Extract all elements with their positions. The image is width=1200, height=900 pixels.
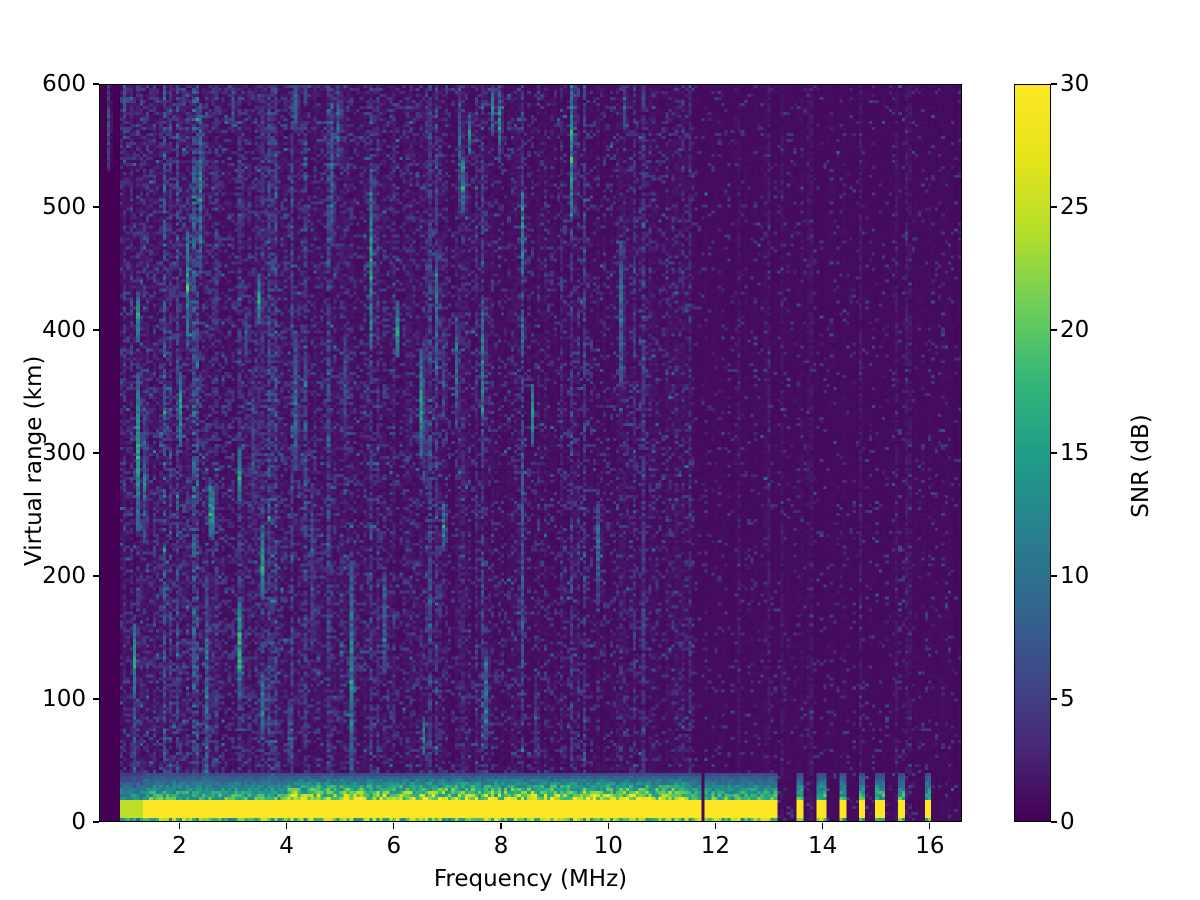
- y-tick-label: 200: [0, 563, 86, 589]
- y-tick-mark: [93, 452, 99, 453]
- y-tick-mark: [93, 698, 99, 699]
- x-tick-label: 12: [701, 833, 730, 859]
- colorbar-tick-mark: [1051, 83, 1057, 84]
- x-tick-label: 2: [172, 833, 187, 859]
- x-tick-mark: [715, 823, 716, 829]
- colorbar-tick-mark: [1051, 821, 1057, 822]
- colorbar-tick-label: 25: [1060, 194, 1089, 220]
- ionogram-figure: IRF Uppsala SDR Ionosonde UP158 2025-10-…: [0, 0, 1200, 900]
- x-tick-label: 4: [279, 833, 294, 859]
- colorbar-gradient: [1015, 85, 1050, 821]
- y-tick-label: 500: [0, 194, 86, 220]
- colorbar-tick-mark: [1051, 452, 1057, 453]
- x-tick-label: 10: [594, 833, 623, 859]
- x-tick-mark: [929, 823, 930, 829]
- y-tick-mark: [93, 575, 99, 576]
- colorbar-tick-mark: [1051, 698, 1057, 699]
- x-tick-mark: [286, 823, 287, 829]
- colorbar: [1014, 84, 1051, 822]
- x-tick-label: 14: [808, 833, 837, 859]
- x-tick-mark: [179, 823, 180, 829]
- colorbar-tick-mark: [1051, 329, 1057, 330]
- heatmap-axes: [99, 84, 962, 822]
- x-tick-mark: [608, 823, 609, 829]
- y-axis-label: Virtual range (km): [21, 366, 47, 566]
- x-tick-label: 6: [386, 833, 401, 859]
- y-tick-mark: [93, 821, 99, 822]
- y-tick-mark: [93, 206, 99, 207]
- colorbar-tick-mark: [1051, 575, 1057, 576]
- y-tick-label: 400: [0, 317, 86, 343]
- colorbar-label: SNR (dB): [1128, 346, 1154, 586]
- y-tick-label: 100: [0, 686, 86, 712]
- colorbar-tick-label: 30: [1060, 71, 1089, 97]
- x-tick-label: 8: [494, 833, 509, 859]
- colorbar-tick-label: 10: [1060, 563, 1089, 589]
- x-axis-label: Frequency (MHz): [99, 866, 962, 892]
- x-tick-label: 16: [915, 833, 944, 859]
- colorbar-tick-label: 15: [1060, 440, 1089, 466]
- colorbar-tick-label: 0: [1060, 809, 1075, 835]
- y-tick-label: 600: [0, 71, 86, 97]
- x-tick-mark: [500, 823, 501, 829]
- x-tick-mark: [393, 823, 394, 829]
- ionogram-heatmap-canvas: [100, 85, 961, 821]
- colorbar-tick-label: 20: [1060, 317, 1089, 343]
- colorbar-tick-label: 5: [1060, 686, 1075, 712]
- y-tick-mark: [93, 329, 99, 330]
- y-tick-mark: [93, 83, 99, 84]
- colorbar-tick-mark: [1051, 206, 1057, 207]
- x-tick-mark: [822, 823, 823, 829]
- y-tick-label: 0: [0, 809, 86, 835]
